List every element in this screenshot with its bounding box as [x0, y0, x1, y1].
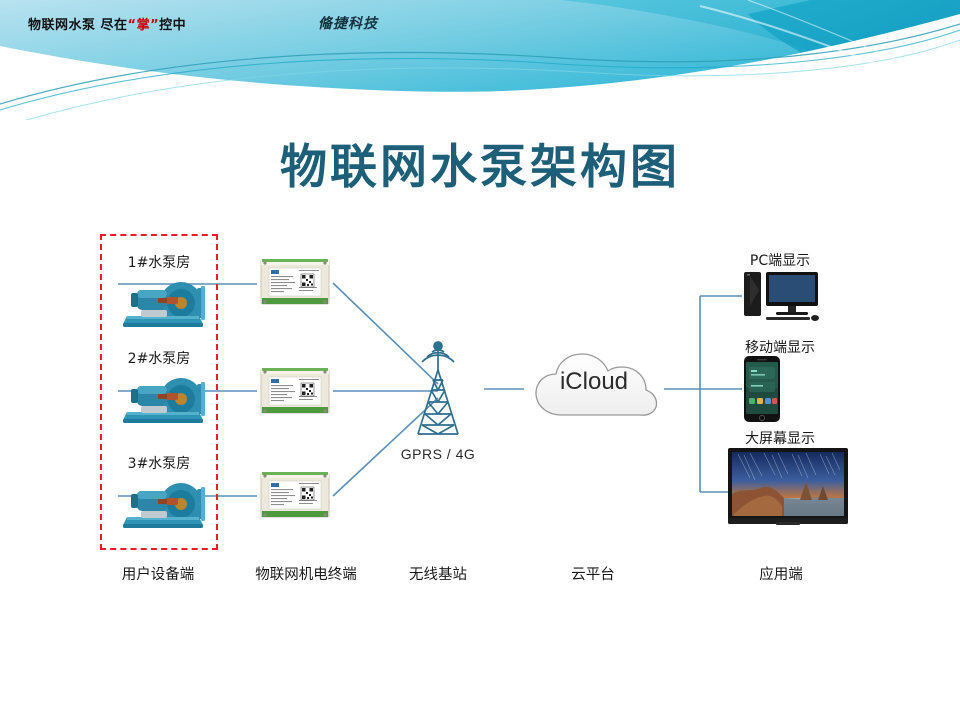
desktop-pc-icon [742, 268, 820, 326]
pump-image-1 [111, 272, 207, 334]
pump-room-label-1: 1#水泵房 [100, 252, 218, 272]
pump-image-2 [111, 368, 207, 430]
cell-tower-icon [392, 330, 484, 442]
cloud-label: iCloud [524, 368, 664, 396]
caption-user-equipment: 用户设备端 [88, 563, 228, 584]
iot-terminal-1 [257, 257, 333, 309]
pump-room-label-2: 2#水泵房 [100, 348, 218, 368]
large-screen-icon [728, 448, 848, 526]
iot-terminal-2 [257, 366, 333, 418]
smartphone-icon [742, 355, 782, 423]
caption-application: 应用端 [716, 563, 846, 584]
app-label-mobile: 移动端显示 [700, 337, 860, 357]
pump-room-label-3: 3#水泵房 [100, 453, 218, 473]
architecture-diagram: 1#水泵房 2#水泵房 [0, 0, 960, 720]
tower-label: GPRS / 4G [380, 446, 496, 462]
app-label-large-screen: 大屏幕显示 [700, 428, 860, 448]
caption-cloud-platform: 云平台 [528, 563, 658, 584]
slide-root: 物联网水泵 尽在“掌”控中 偹捷科技 物联网水泵架构图 [0, 0, 960, 720]
pump-image-3 [111, 473, 207, 535]
app-label-pc: PC端显示 [700, 250, 860, 270]
caption-iot-terminal: 物联网机电终端 [216, 563, 396, 584]
caption-base-station: 无线基站 [378, 563, 498, 584]
iot-terminal-3 [257, 470, 333, 522]
